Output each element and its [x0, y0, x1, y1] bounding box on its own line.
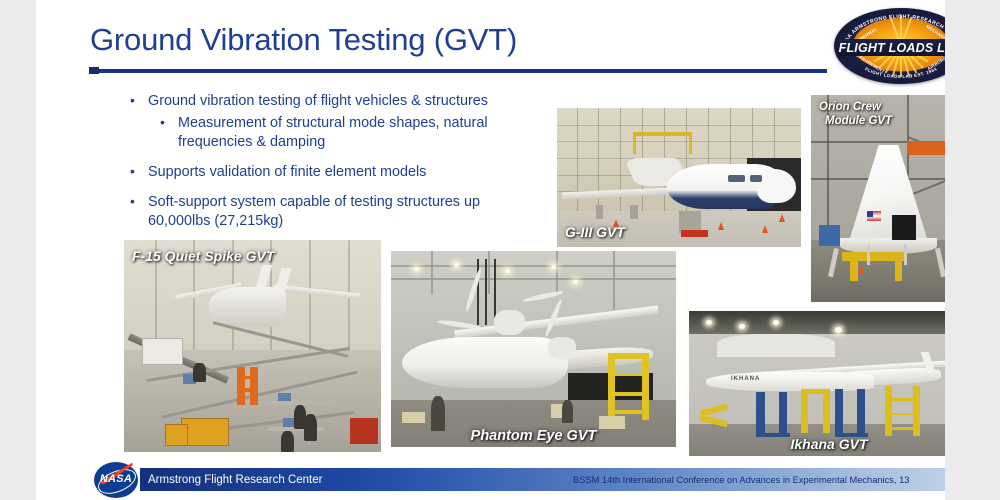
- vehicle-marking: IKHANA: [731, 376, 760, 382]
- photo-ikhana-gvt: IKHANA Ikhana GVT: [689, 311, 945, 456]
- bullet-item: Soft-support system capable of testing s…: [126, 193, 541, 231]
- photo-caption: Phantom Eye GVT: [471, 428, 597, 445]
- aircraft-fuselage: [402, 337, 567, 388]
- photo-caption: Ikhana GVT: [790, 436, 867, 453]
- page-title: Ground Vibration Testing (GVT): [90, 22, 517, 58]
- bullet-list: Ground vibration testing of flight vehic…: [126, 92, 541, 234]
- ladder: [237, 367, 245, 405]
- equipment-cart: [819, 225, 841, 246]
- capsule-access-panel: [892, 215, 917, 240]
- title-divider: [89, 69, 827, 73]
- equipment-crate: [181, 418, 229, 445]
- footer-center-name: Armstrong Flight Research Center: [148, 474, 322, 486]
- photo-f15-quiet-spike-gvt: F-15 Quiet Spike GVT: [124, 240, 381, 452]
- bullet-item: Supports validation of finite element mo…: [126, 163, 541, 182]
- photo-caption: Orion Crew Module GVT: [819, 101, 892, 128]
- technician: [431, 396, 445, 431]
- technician: [193, 363, 206, 382]
- overhead-crane: [907, 141, 945, 155]
- photo-orion-crew-module-gvt: Orion Crew Module GVT: [811, 95, 945, 302]
- hanging-tarp: [717, 334, 835, 357]
- us-flag-decal: [867, 211, 881, 221]
- slide-canvas: Ground Vibration Testing (GVT) Ground vi…: [36, 0, 945, 500]
- nasa-logo-wordmark: NASA: [94, 473, 138, 485]
- hangar-roof: [689, 311, 945, 334]
- photo-caption: F-15 Quiet Spike GVT: [132, 248, 274, 265]
- flight-loads-lab-logo: NASA ARMSTRONG FLIGHT RESEARCH CENTER FL…: [834, 8, 945, 84]
- bullet-item: Measurement of structural mode shapes, n…: [126, 114, 541, 152]
- photo-g3-gvt: G-III GVT: [557, 108, 801, 247]
- bullet-item: Ground vibration testing of flight vehic…: [126, 92, 541, 111]
- photo-phantom-eye-gvt: Phantom Eye GVT: [391, 251, 676, 447]
- photo-caption: G-III GVT: [565, 224, 625, 241]
- aircraft-fuselage: [209, 287, 286, 327]
- support-jack: [756, 392, 764, 436]
- ground-support-cart: [142, 338, 183, 365]
- nasa-meatball-logo: NASA: [94, 462, 138, 498]
- engine-nacelle-left: [494, 310, 525, 335]
- caption-line-2: Module GVT: [819, 115, 892, 129]
- footer-conference-name: BSSM 14th International Conference on Ad…: [573, 475, 909, 485]
- caption-line-1: Orion Crew: [819, 101, 892, 115]
- logo-name-band: FLIGHT LOADS LAB: [838, 39, 945, 56]
- logo-name-text: FLIGHT LOADS LAB: [839, 41, 945, 55]
- aircraft-nose: [757, 169, 796, 202]
- title-divider-cap: [89, 67, 99, 74]
